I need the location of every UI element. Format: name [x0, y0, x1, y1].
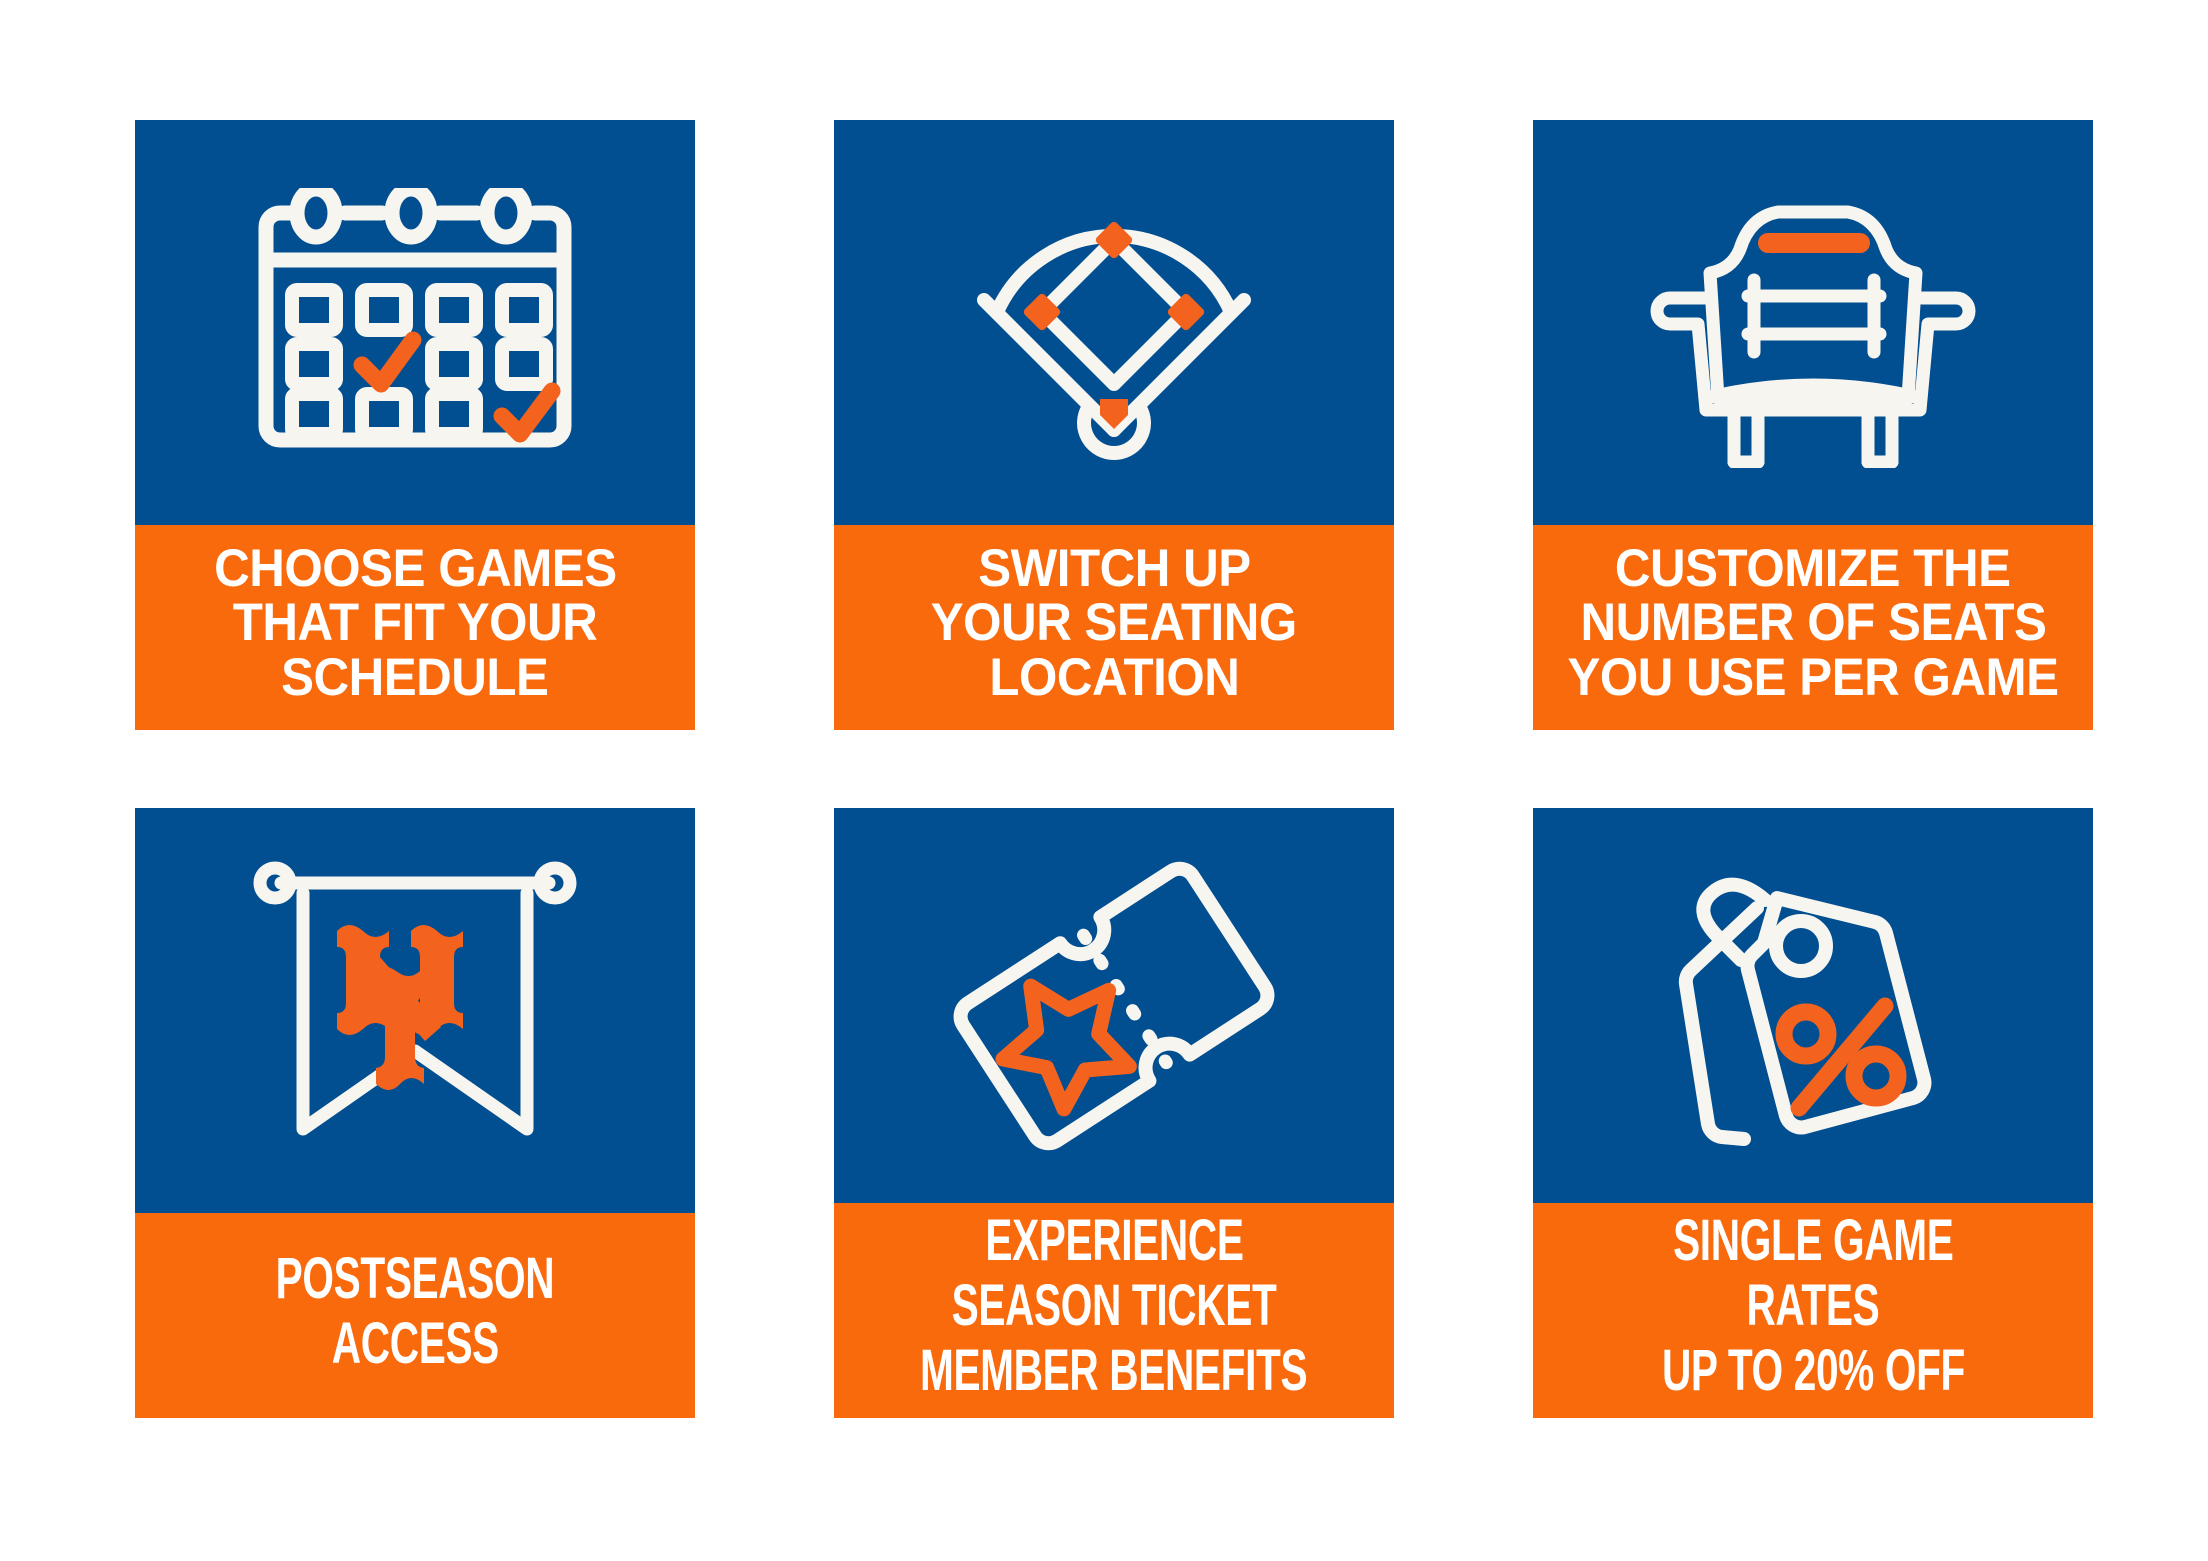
caption-line: POSTSEASON	[276, 1247, 555, 1312]
star-ticket-icon	[949, 856, 1279, 1156]
price-tag-percent-icon	[1653, 856, 1973, 1156]
stadium-seat-icon-panel	[1533, 120, 2093, 525]
baseball-diamond-icon-panel	[834, 120, 1394, 525]
benefit-tile-customize-seats[interactable]: CUSTOMIZE THE NUMBER OF SEATS YOU USE PE…	[1533, 120, 2093, 730]
baseball-diamond-icon	[964, 180, 1264, 465]
pennant-flag-icon-panel	[135, 808, 695, 1213]
benefit-tile-postseason-access[interactable]: POSTSEASON ACCESS	[135, 808, 695, 1418]
caption-line: NUMBER OF SEATS	[1580, 596, 2046, 650]
caption-line: SWITCH UP	[978, 542, 1250, 596]
caption-line: MEMBER BENEFITS	[920, 1339, 1307, 1404]
benefits-grid: CHOOSE GAMES THAT FIT YOUR SCHEDULE	[135, 120, 2073, 1418]
caption-line: THAT FIT YOUR	[233, 596, 598, 650]
percent-icon	[1784, 1006, 1898, 1108]
benefit-caption-switch-seating: SWITCH UP YOUR SEATING LOCATION	[834, 525, 1394, 730]
price-tag-percent-icon-panel	[1533, 808, 2093, 1203]
caption-line: YOUR SEATING	[931, 596, 1297, 650]
benefit-caption-choose-games: CHOOSE GAMES THAT FIT YOUR SCHEDULE	[135, 525, 695, 730]
benefit-caption-customize-seats: CUSTOMIZE THE NUMBER OF SEATS YOU USE PE…	[1533, 525, 2093, 730]
caption-line: RATES	[1747, 1274, 1880, 1339]
benefit-caption-member-benefits: EXPERIENCE SEASON TICKET MEMBER BENEFITS	[834, 1203, 1394, 1418]
caption-line: YOU USE PER GAME	[1567, 651, 2058, 705]
caption-line: ACCESS	[331, 1312, 498, 1377]
seat-headrest-accent	[1758, 233, 1870, 253]
caption-line: UP TO 20% OFF	[1661, 1339, 1964, 1404]
caption-line: SEASON TICKET	[952, 1274, 1277, 1339]
benefit-tile-switch-seating[interactable]: SWITCH UP YOUR SEATING LOCATION	[834, 120, 1394, 730]
benefit-tile-choose-games[interactable]: CHOOSE GAMES THAT FIT YOUR SCHEDULE	[135, 120, 695, 730]
benefit-tile-member-benefits[interactable]: EXPERIENCE SEASON TICKET MEMBER BENEFITS	[834, 808, 1394, 1418]
caption-line: CHOOSE GAMES	[214, 542, 616, 596]
caption-line: LOCATION	[989, 651, 1239, 705]
caption-line: SCHEDULE	[281, 651, 548, 705]
benefits-grid-page: CHOOSE GAMES THAT FIT YOUR SCHEDULE	[0, 0, 2208, 1561]
stadium-seat-icon	[1648, 178, 1978, 468]
benefit-caption-single-game-rates: SINGLE GAME RATES UP TO 20% OFF	[1533, 1203, 2093, 1418]
caption-line: CUSTOMIZE THE	[1615, 542, 2011, 596]
caption-line: EXPERIENCE	[985, 1209, 1243, 1274]
pennant-flag-icon	[245, 861, 585, 1161]
benefit-tile-single-game-rates[interactable]: SINGLE GAME RATES UP TO 20% OFF	[1533, 808, 2093, 1418]
caption-line: SINGLE GAME	[1673, 1209, 1953, 1274]
calendar-icon	[250, 188, 580, 458]
star-ticket-icon-panel	[834, 808, 1394, 1203]
calendar-icon-panel	[135, 120, 695, 525]
benefit-caption-postseason-access: POSTSEASON ACCESS	[135, 1213, 695, 1418]
